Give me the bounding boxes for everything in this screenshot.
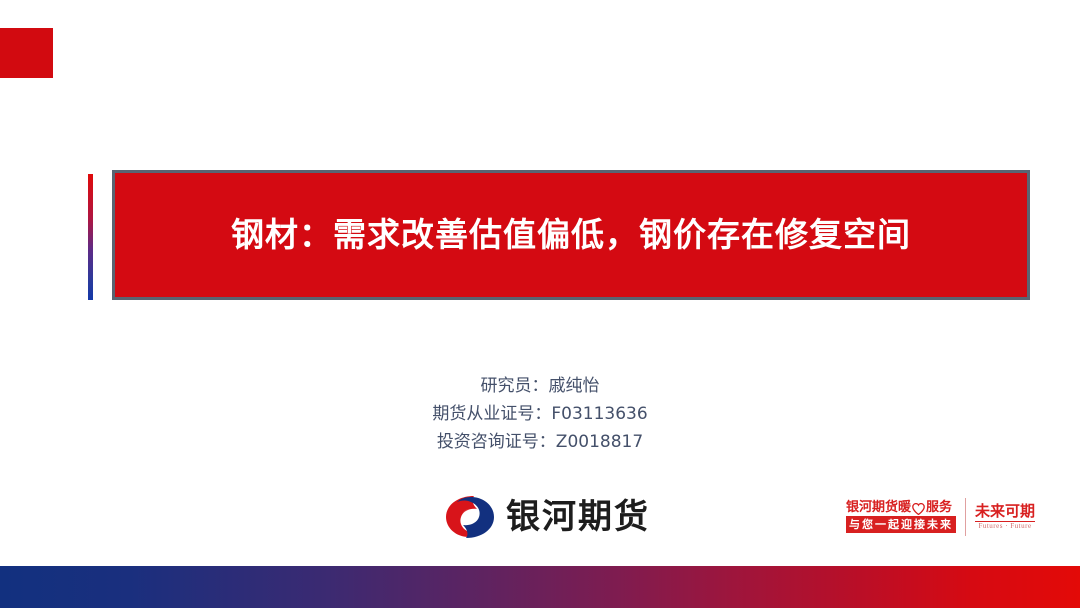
top-left-red-accent: [0, 28, 53, 78]
company-logo: 银河期货: [444, 494, 650, 540]
slogan-brand-en: Futures · Future: [978, 523, 1031, 530]
researcher-name: 研究员：戚纯怡: [0, 372, 1080, 400]
slogan-left-group: 银河期货暖 服务 与您一起迎接未来: [846, 496, 956, 538]
presentation-slide: 钢材：需求改善估值偏低，钢价存在修复空间 研究员：戚纯怡 期货从业证号：F031…: [0, 0, 1080, 608]
slogan-line-1: 银河期货暖 服务: [846, 501, 956, 514]
footer-gradient-bar: [0, 566, 1080, 608]
slogan-right-group: 未来可期 Futures · Future: [975, 496, 1035, 538]
author-credentials-block: 研究员：戚纯怡 期货从业证号：F03113636 投资咨询证号：Z0018817: [0, 372, 1080, 456]
company-wordmark: 银河期货: [506, 500, 650, 534]
heart-icon: [912, 503, 925, 515]
slogan-text-before-heart: 银河期货暖: [846, 501, 911, 514]
slogan-line-2: 与您一起迎接未来: [846, 516, 956, 533]
slogan-divider: [965, 498, 966, 536]
title-banner: 钢材：需求改善估值偏低，钢价存在修复空间: [112, 170, 1030, 300]
page-title: 钢材：需求改善估值偏低，钢价存在修复空间: [231, 215, 911, 255]
galaxy-futures-swirl-icon: [444, 494, 496, 540]
slogan-brand-cn: 未来可期: [975, 504, 1035, 522]
title-block: 钢材：需求改善估值偏低，钢价存在修复空间: [88, 170, 1032, 302]
futures-license-number: 期货从业证号：F03113636: [0, 400, 1080, 428]
slogan-text-after-heart: 服务: [926, 501, 952, 514]
title-accent-gradient-bar: [88, 174, 93, 300]
consulting-license-number: 投资咨询证号：Z0018817: [0, 428, 1080, 456]
slogan-lockup: 银河期货暖 服务 与您一起迎接未来 未来可期 Futures · Future: [846, 496, 1035, 538]
